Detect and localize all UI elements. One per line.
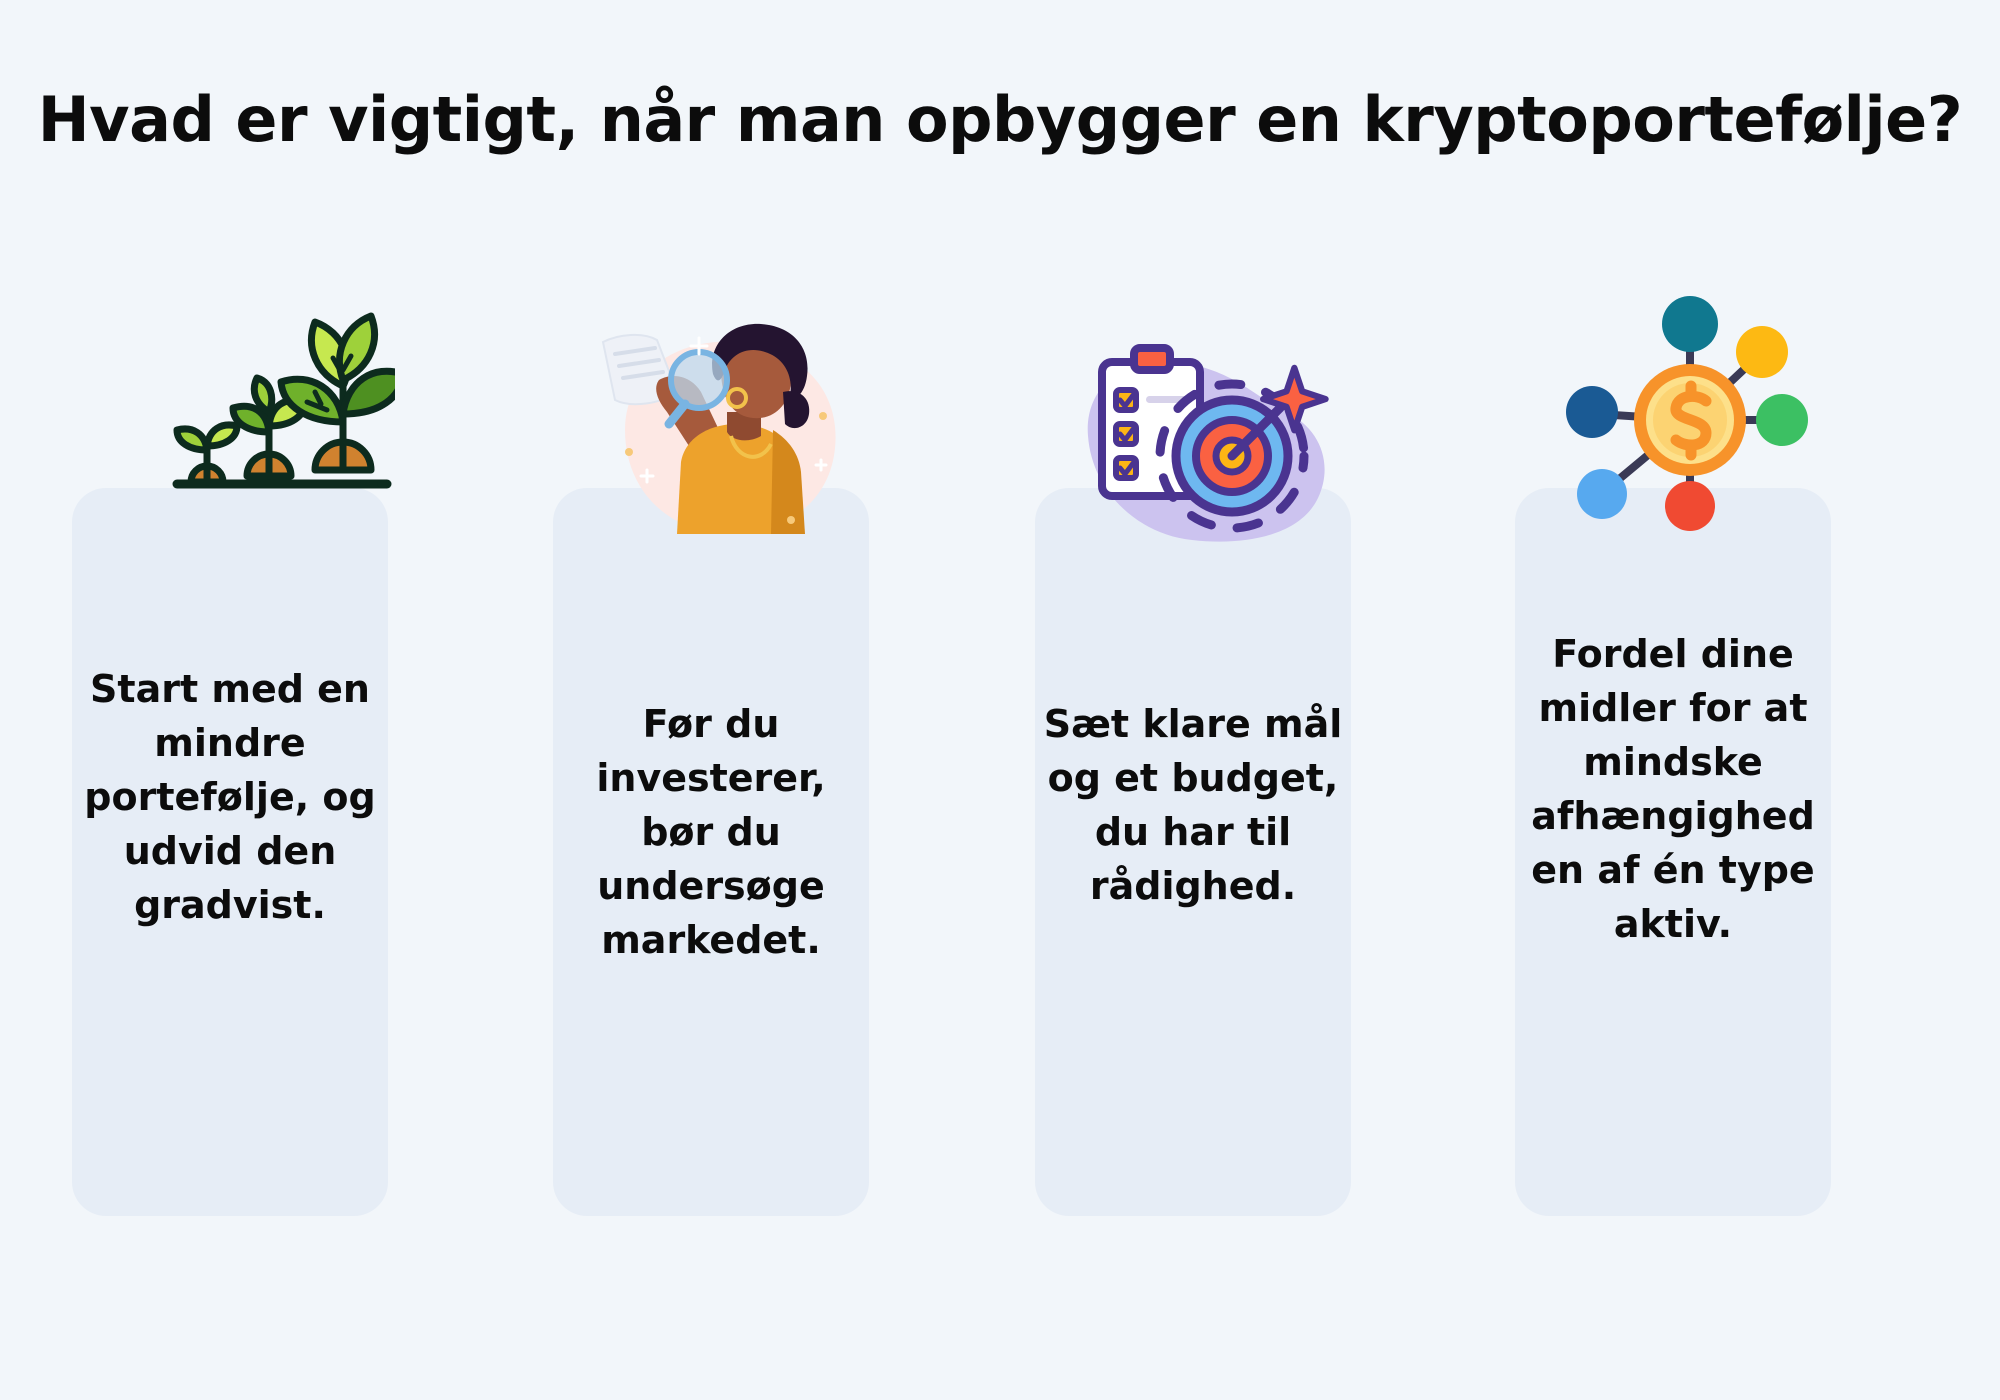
node-green [1756, 394, 1808, 446]
infographic-page: Hvad er vigtigt, når man opbygger en kry… [0, 0, 2000, 1400]
card-1-text: Start med en mindre portefølje, og udvid… [80, 663, 380, 933]
card-1: Start med en mindre portefølje, og udvid… [72, 488, 388, 1216]
node-teal [1662, 296, 1718, 352]
card-2-text: Før du investerer, bør du undersøge mark… [561, 698, 861, 968]
card-2: Før du investerer, bør du undersøge mark… [553, 488, 869, 1216]
node-darkblue [1566, 386, 1618, 438]
card-3: Sæt klare mål og et budget, du har til r… [1035, 488, 1351, 1216]
card-3-text: Sæt klare mål og et budget, du har til r… [1043, 698, 1343, 914]
growing-plants-icon [155, 300, 395, 500]
card-4-text: Fordel dine midler for at mindske afhæng… [1523, 628, 1823, 952]
card-4: Fordel dine midler for at mindske afhæng… [1515, 488, 1831, 1216]
cards-container: Start med en mindre portefølje, og udvid… [0, 0, 2000, 1400]
node-yellow [1736, 326, 1788, 378]
